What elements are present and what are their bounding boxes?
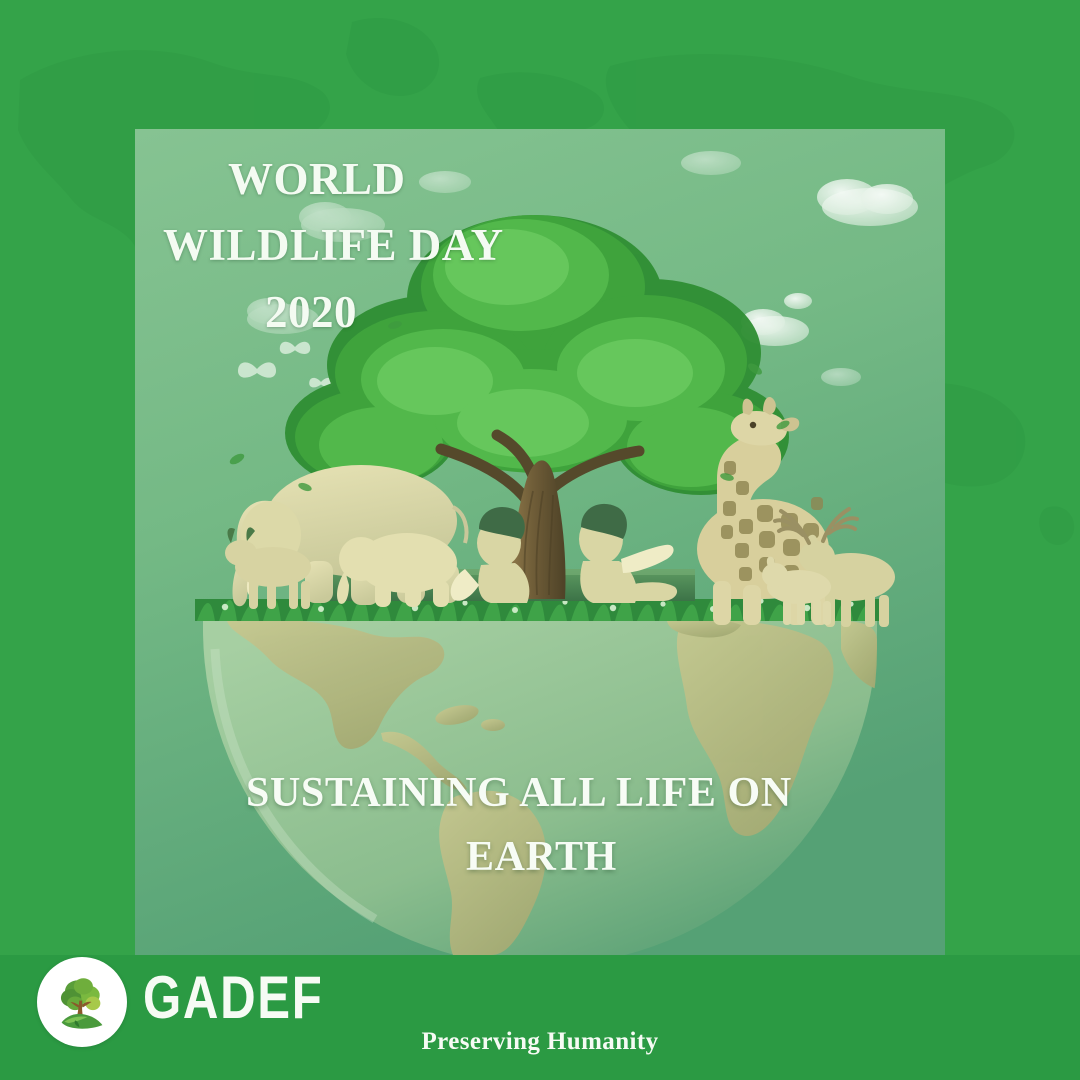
headline-year: 2020	[265, 290, 357, 335]
headline-line-2: WILDLIFE DAY	[163, 223, 504, 268]
headline-line-1: WORLD	[228, 157, 406, 202]
subheadline-line-1: SUSTAINING ALL LIFE ON	[246, 772, 792, 814]
subheadline-line-2: EARTH	[466, 836, 617, 878]
brand-tagline: Preserving Humanity	[0, 1028, 1080, 1056]
tree-on-hand-icon	[48, 968, 116, 1036]
poster-canvas: WORLD WILDLIFE DAY 2020 SUSTAINING ALL L…	[0, 0, 1080, 1080]
brand-name: GADEF	[143, 968, 323, 1028]
grass-strip	[195, 598, 885, 621]
